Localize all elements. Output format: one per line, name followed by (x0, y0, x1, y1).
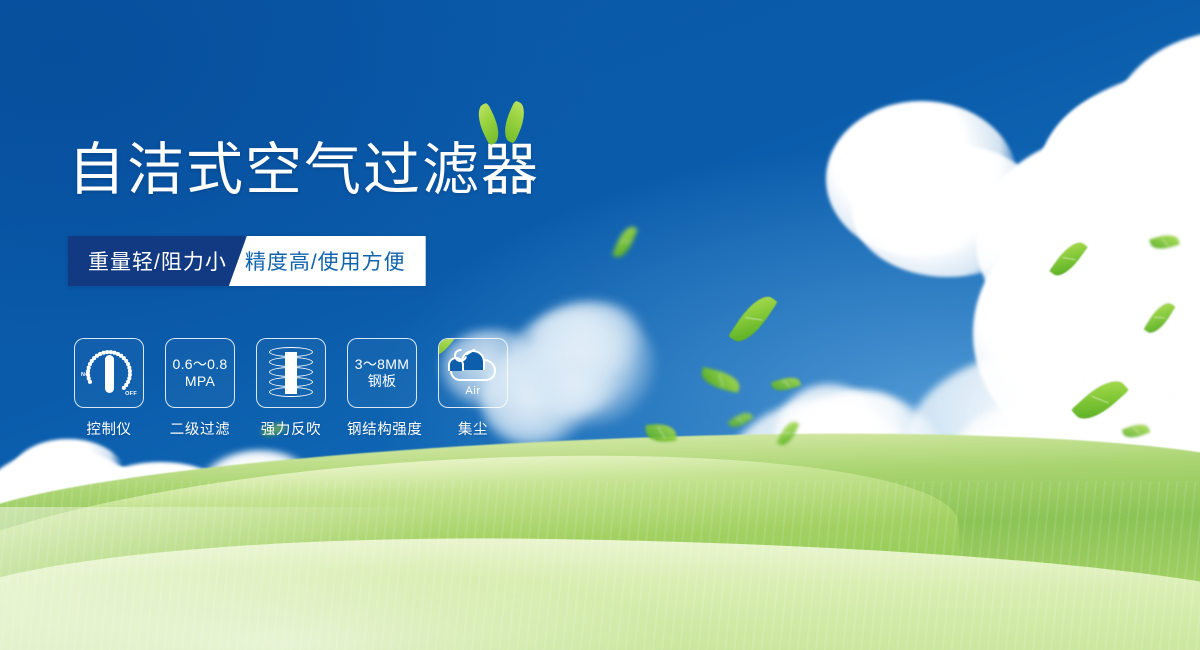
pressure-icon-box: 0.6～0.8 MPA (165, 338, 235, 408)
sprout-leaves-icon (466, 98, 538, 148)
feature-label-filtration: 二级过滤 (165, 418, 235, 439)
feature-tag-bar: 重量轻/阻力小 精度高/使用方便 (68, 236, 426, 286)
floating-leaf-icon (1049, 237, 1087, 281)
feature-item-controller[interactable]: NO OFF 控制仪 (74, 338, 144, 439)
floating-leaf-icon (1149, 232, 1179, 252)
spring-ring-icon (269, 357, 313, 367)
feature-icon-row: NO OFF 控制仪 0.6～0.8 MPA 二级过滤 (74, 338, 508, 439)
gauge-tick-dot (90, 359, 93, 362)
floating-leaf-icon (1144, 299, 1176, 337)
feature-label-steel-strength: 钢结构强度 (347, 418, 417, 439)
sprout-leaf-left-icon (472, 102, 505, 145)
sprout-leaf-right-icon (499, 100, 531, 143)
floating-leaf-icon (727, 409, 753, 432)
feature-item-blowback[interactable]: 强力反吹 (256, 338, 326, 439)
leaf-blade (727, 409, 753, 432)
tag-precision-usability: 精度高/使用方便 (229, 236, 426, 286)
pressure-value-line2: MPA (185, 373, 215, 390)
gauge-tick-dot (88, 380, 91, 383)
headline-block: 自洁式空气过滤器 (68, 140, 540, 200)
feature-label-controller: 控制仪 (74, 418, 144, 439)
gauge-tick-dot (88, 362, 91, 365)
leaf-blade (1149, 232, 1179, 252)
steel-thickness-line2: 钢板 (368, 373, 397, 390)
feature-item-dust-collection[interactable]: Air 集尘 (438, 338, 508, 439)
gauge-icon: NO OFF (82, 346, 136, 400)
floating-leaf-icon (612, 224, 638, 261)
leaf-blade (771, 374, 801, 394)
product-banner: 自洁式空气过滤器 重量轻/阻力小 精度高/使用方便 NO OFF 控制仪 0.6… (0, 0, 1200, 650)
leaf-blade (1071, 372, 1129, 427)
air-cloud-icon (446, 349, 500, 383)
floating-leaf-icon (777, 419, 800, 449)
leaf-blade (777, 419, 800, 449)
page-title: 自洁式空气过滤器 (68, 140, 540, 200)
tag-weight-resistance: 重量轻/阻力小 (68, 236, 245, 286)
leaf-blade (699, 367, 742, 393)
floating-leaves-layer (0, 0, 1200, 650)
leaf-blade (1122, 421, 1151, 441)
floating-leaf-icon (728, 290, 778, 349)
steel-thickness-line1: 3～8MM (355, 356, 409, 373)
leaf-blade (1144, 299, 1176, 337)
leaf-blade (612, 224, 638, 261)
blowback-icon-box (256, 338, 326, 408)
leaf-blade (645, 423, 676, 443)
spring-ring-icon (269, 377, 313, 387)
gauge-needle-icon (105, 355, 114, 393)
leaf-blade (1049, 237, 1087, 281)
floating-leaf-icon (1122, 421, 1151, 441)
feature-item-filtration[interactable]: 0.6～0.8 MPA 二级过滤 (165, 338, 235, 439)
floating-leaf-icon (699, 367, 742, 393)
gauge-label-off: OFF (125, 391, 137, 397)
feature-item-steel-strength[interactable]: 3～8MM 钢板 钢结构强度 (347, 338, 417, 439)
steel-plate-icon-box: 3～8MM 钢板 (347, 338, 417, 408)
leaf-blade (728, 290, 778, 349)
floating-leaf-icon (645, 423, 676, 443)
feature-label-blowback: 强力反吹 (256, 418, 326, 439)
air-label: Air (465, 385, 480, 397)
pressure-value-line1: 0.6～0.8 (172, 356, 227, 373)
spring-ring-icon (269, 347, 313, 357)
spring-ring-icon (269, 367, 313, 377)
gauge-tick-dot (87, 366, 90, 369)
feature-label-dust-collection: 集尘 (438, 418, 508, 439)
controller-icon-box: NO OFF (74, 338, 144, 408)
floating-leaf-icon (771, 374, 801, 394)
gauge-tick-dot (122, 386, 125, 389)
dust-collection-icon-box: Air (438, 338, 508, 408)
spring-coil-icon (268, 347, 314, 399)
spring-ring-icon (269, 387, 313, 397)
floating-leaf-icon (1071, 372, 1129, 427)
